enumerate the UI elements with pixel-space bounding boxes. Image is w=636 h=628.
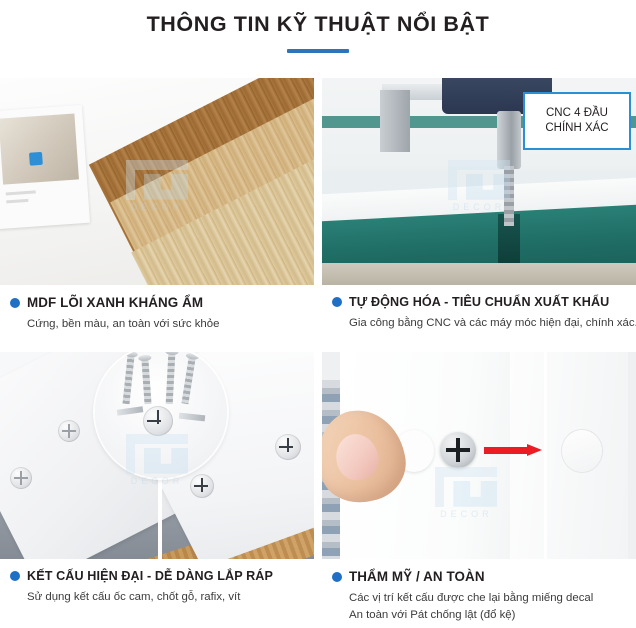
feature-grid: DECOR MDF LÕI XANH KHÁNG ẨM Cứng, bền mà… [0, 78, 636, 628]
screw [141, 360, 151, 404]
magnifier-circle [95, 352, 227, 478]
feature-subtitle-line: Gia công bằng CNC và các máy móc hiện đạ… [349, 315, 636, 332]
dowel-pin [179, 413, 205, 422]
cnc-badge-line1: CNC 4 ĐẦU [546, 106, 608, 121]
cam-lock-screw [10, 467, 32, 489]
bullet-icon [332, 572, 342, 582]
cam-lock-screw-exposed [440, 432, 476, 468]
feature-title: TỰ ĐỘNG HÓA - TIÊU CHUẨN XUẤT KHẨU [349, 295, 609, 309]
feature-subtitle-line: An toàn với Pát chống lật (đổ kệ) [349, 607, 636, 624]
photo-mdf-boards: DECOR [0, 78, 314, 285]
caption-automation: TỰ ĐỘNG HÓA - TIÊU CHUẨN XUẤT KHẨU Gia c… [322, 285, 636, 352]
panel-divider [544, 352, 547, 559]
screw [166, 354, 176, 404]
screw-head [138, 355, 151, 362]
brochure-image [0, 113, 79, 184]
feature-cell-automation: DECOR CNC 4 ĐẦU CHÍNH XÁC TỰ ĐỘNG HÓA - … [322, 78, 636, 352]
page-header: THÔNG TIN KỸ THUẬT NỔI BẬT [0, 0, 636, 53]
feature-subtitle-line: Cứng, bền màu, an toàn với sức khỏe [27, 316, 314, 333]
screw [181, 358, 195, 405]
cnc-badge: CNC 4 ĐẦU CHÍNH XÁC [523, 92, 631, 150]
feature-subtitle: Cứng, bền màu, an toàn với sức khỏe [27, 316, 314, 333]
bullet-icon [10, 571, 20, 581]
cnc-column [380, 90, 410, 152]
feature-title: THẨM MỸ / AN TOÀN [349, 569, 485, 584]
brochure-text-line [6, 190, 36, 195]
machine-bed [322, 263, 636, 285]
bullet-icon [10, 298, 20, 308]
red-arrow-icon [484, 444, 542, 456]
dowel-pin [117, 406, 144, 416]
arrow-head [527, 444, 542, 456]
cnc-drill-bit [504, 166, 514, 226]
brochure-text-line [6, 199, 28, 204]
feature-title: KẾT CẤU HIỆN ĐẠI - DỄ DÀNG LẮP RÁP [27, 569, 273, 583]
photo-decal-cover: DECOR [322, 352, 636, 559]
title-underline [287, 49, 349, 53]
photo-cam-lock-assembly: DECOR [0, 352, 314, 559]
feature-subtitle: Gia công bằng CNC và các máy móc hiện đạ… [349, 315, 636, 332]
arrow-shaft [484, 447, 528, 454]
feature-cell-mdf-core: DECOR MDF LÕI XANH KHÁNG ẨM Cứng, bền mà… [0, 78, 314, 352]
feature-subtitle-line: Sử dụng kết cấu ốc cam, chốt gỗ, rafix, … [27, 589, 314, 606]
feature-cell-aesthetic-safety: DECOR THẨM MỸ / AN TOÀN Các vị trí kết c… [322, 352, 636, 628]
cam-lock-screw [190, 474, 214, 498]
caption-mdf-core: MDF LÕI XANH KHÁNG ẨM Cứng, bền màu, an … [0, 285, 314, 352]
decal-cap-applied [562, 430, 602, 472]
cnc-badge-line2: CHÍNH XÁC [545, 121, 608, 136]
feature-cell-assembly: DECOR KẾT CẤU HIỆN ĐẠI - DỄ DÀNG LẮP RÁP… [0, 352, 314, 628]
page-title: THÔNG TIN KỸ THUẬT NỔI BẬT [0, 13, 636, 37]
cnc-chuck [497, 111, 521, 169]
screw-head [165, 352, 178, 355]
cam-lock-screw [275, 434, 301, 460]
caption-assembly: KẾT CẤU HIỆN ĐẠI - DỄ DÀNG LẮP RÁP Sử dụ… [0, 559, 314, 628]
brochure-photo [0, 105, 90, 229]
cam-lock-screw [58, 420, 80, 442]
cam-lock-screw-zoomed [143, 406, 173, 436]
screw [123, 356, 135, 404]
feature-subtitle-line: Các vị trí kết cấu được che lại bằng miế… [349, 590, 636, 607]
bullet-icon [332, 297, 342, 307]
caption-aesthetic-safety: THẨM MỸ / AN TOÀN Các vị trí kết cấu đượ… [322, 559, 636, 628]
brochure-blue-swatch [29, 152, 43, 166]
photo-cnc-machine: DECOR CNC 4 ĐẦU CHÍNH XÁC [322, 78, 636, 285]
screw-head [124, 352, 138, 358]
feature-title: MDF LÕI XANH KHÁNG ẨM [27, 295, 203, 310]
feature-subtitle: Các vị trí kết cấu được che lại bằng miế… [349, 590, 636, 623]
feature-subtitle: Sử dụng kết cấu ốc cam, chốt gỗ, rafix, … [27, 589, 314, 606]
